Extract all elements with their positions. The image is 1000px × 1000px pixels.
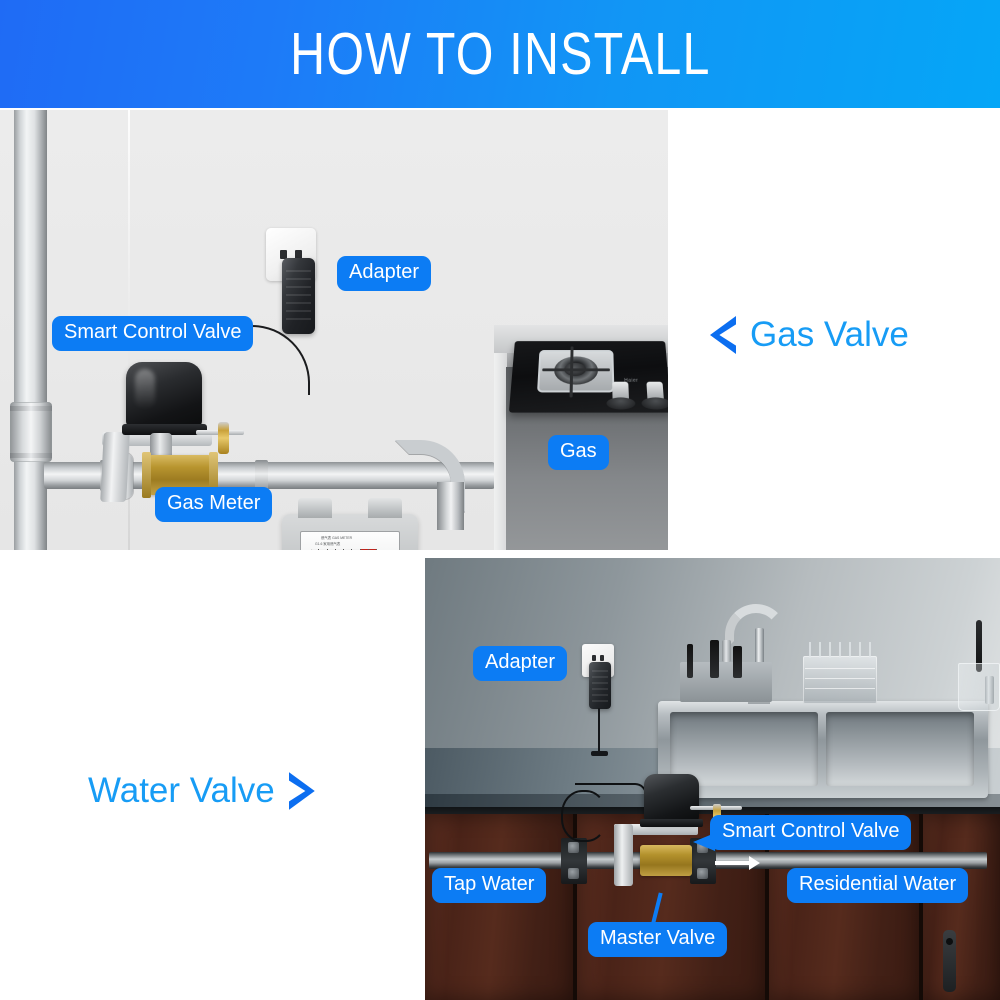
meter-label-line1: 燃气表 GAS METER xyxy=(321,535,352,540)
socket-slot-right xyxy=(600,655,604,661)
pipe-tee-fitting xyxy=(10,402,52,462)
cabinet-door[interactable] xyxy=(425,814,573,1000)
sink-bowl-right xyxy=(826,712,974,786)
knife-block xyxy=(680,662,772,702)
socket-slot-left xyxy=(592,655,596,661)
pipe-elbow-riser xyxy=(437,482,464,530)
meter-digit: 0 xyxy=(328,549,336,550)
meter-digit: 0 xyxy=(311,549,319,550)
gas-installation-photo: 燃气表 GAS METER G1.6 家用燃气表 00000000 No. 20… xyxy=(0,110,668,550)
cooktop-knob-right[interactable] xyxy=(646,382,664,402)
label-adapter-gas: Adapter xyxy=(337,256,431,291)
gas-cooktop: Haier xyxy=(509,341,668,412)
cabinet-door[interactable] xyxy=(923,814,1000,1000)
gas-valve-callout-label: Gas Valve xyxy=(750,315,909,355)
label-smart-control-valve-water: Smart Control Valve xyxy=(710,815,911,850)
meter-digit: 0 xyxy=(369,549,377,550)
label-residential-water: Residential Water xyxy=(787,868,968,903)
meter-outlet-port xyxy=(368,498,402,518)
glass-cup xyxy=(958,663,1000,711)
meter-digit: 0 xyxy=(319,549,327,550)
chevron-right-icon xyxy=(289,772,315,810)
arrow-head-right-icon xyxy=(749,856,760,870)
water-valve-callout-label: Water Valve xyxy=(88,771,275,811)
meter-digit: 0 xyxy=(344,549,352,550)
smart-control-valve-actuator-water xyxy=(644,774,699,822)
valve-actuator-base xyxy=(640,819,703,827)
meter-digit: 0 xyxy=(361,549,369,550)
valve-cable xyxy=(575,783,647,795)
label-tap-water: Tap Water xyxy=(432,868,546,903)
valve-cable-loop xyxy=(561,790,607,842)
gas-meter-faceplate: 燃气表 GAS METER G1.6 家用燃气表 00000000 No. 20… xyxy=(300,531,400,550)
meter-label-line2: G1.6 家用燃气表 xyxy=(315,541,340,546)
master-valve-brass-body xyxy=(640,845,692,876)
valve-mount-bracket xyxy=(614,824,633,886)
meter-digit: 0 xyxy=(336,549,344,550)
knife xyxy=(733,646,742,678)
label-master-valve: Master Valve xyxy=(588,922,727,957)
label-gas: Gas xyxy=(548,435,609,470)
faucet-spout xyxy=(722,640,731,662)
cooktop-burner-tray xyxy=(537,350,614,392)
power-adapter-kitchen xyxy=(589,662,611,709)
burner-grate xyxy=(542,368,610,371)
knife xyxy=(687,644,693,678)
chevron-left-icon xyxy=(710,316,736,354)
infographic-page: HOW TO INSTALL xyxy=(0,0,1000,1000)
water-valve-callout: Water Valve xyxy=(88,771,315,811)
adapter-cord-kitchen xyxy=(598,708,600,754)
kitchen-sink xyxy=(658,701,988,798)
header-banner: HOW TO INSTALL xyxy=(0,0,1000,108)
cabinet-handle[interactable] xyxy=(943,930,956,992)
knife xyxy=(710,640,719,678)
pipe-bracket-left xyxy=(561,838,587,884)
residential-water-flow-arrow xyxy=(715,856,760,870)
power-adapter xyxy=(282,258,315,334)
horizontal-gas-pipe xyxy=(44,462,396,489)
meter-digit: 0 xyxy=(352,549,360,550)
gas-meter-odometer: 00000000 xyxy=(311,549,377,550)
label-gas-meter: Gas Meter xyxy=(155,487,272,522)
label-adapter-water: Adapter xyxy=(473,646,567,681)
adapter-cord-end xyxy=(591,751,608,756)
cabinet-gap xyxy=(919,814,923,1000)
label-smart-control-valve-gas: Smart Control Valve xyxy=(52,316,253,351)
cooktop-knob-left[interactable] xyxy=(612,382,629,402)
dish-rack xyxy=(803,656,877,704)
gas-meter: 燃气表 GAS METER G1.6 家用燃气表 00000000 No. 20… xyxy=(282,514,418,550)
gas-valve-callout: Gas Valve xyxy=(710,315,909,355)
valve-mount-bracket xyxy=(100,432,130,502)
page-title: HOW TO INSTALL xyxy=(290,25,710,84)
brass-pin xyxy=(218,422,229,454)
meter-inlet-port xyxy=(298,498,332,518)
vertical-riser-pipe xyxy=(14,110,47,550)
